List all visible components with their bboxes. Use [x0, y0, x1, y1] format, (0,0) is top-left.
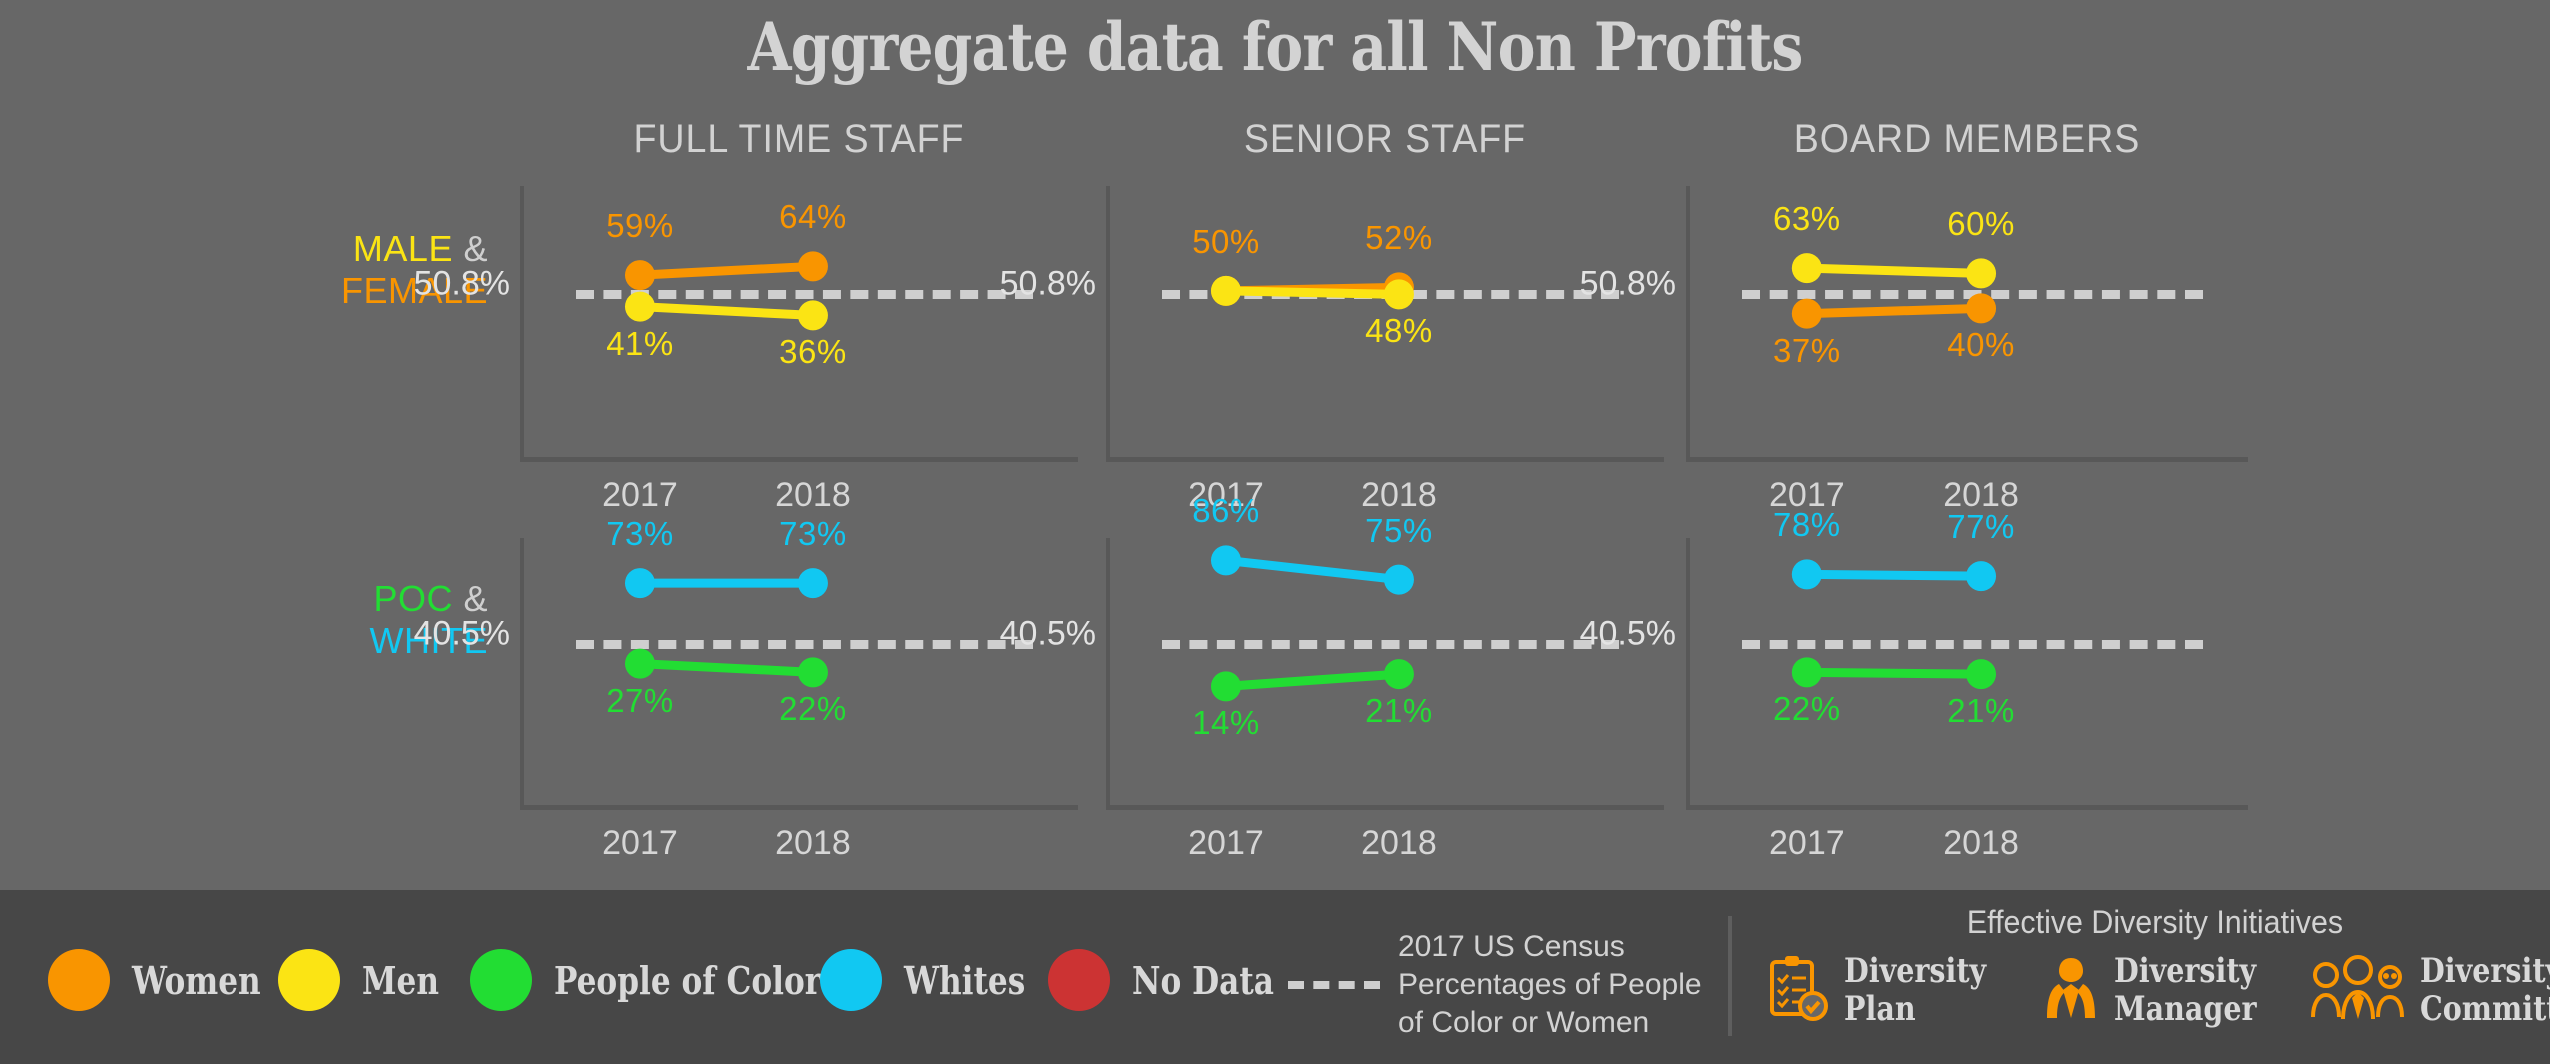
initiative-label: Diversity Manager	[2114, 952, 2257, 1028]
data-point[interactable]	[625, 568, 655, 598]
clipboard-check-icon	[1768, 954, 1830, 1027]
point-value-label: 22%	[779, 690, 847, 728]
census-note-text: 2017 US Census Percentages of People of …	[1398, 928, 1702, 1042]
point-value-label: 63%	[1773, 200, 1841, 238]
point-value-label: 73%	[779, 515, 847, 553]
legend-item-people-of-color[interactable]: People of Color	[470, 950, 880, 1010]
circle-icon	[48, 949, 110, 1011]
point-value-label: 21%	[1365, 692, 1433, 730]
point-value-label: 41%	[606, 325, 674, 363]
dashed-line-icon	[1288, 981, 1380, 989]
circle-icon	[820, 949, 882, 1011]
point-value-label: 77%	[1947, 508, 2015, 546]
data-point[interactable]	[1966, 258, 1996, 288]
initiative-label: Diversity Committee	[2420, 952, 2550, 1028]
x-tick-label-2018: 2018	[1901, 824, 2061, 863]
data-point[interactable]	[1384, 565, 1414, 595]
data-point[interactable]	[1966, 659, 1996, 689]
data-point[interactable]	[1792, 253, 1822, 283]
people-group-icon	[2310, 955, 2406, 1026]
x-tick-label-2017: 2017	[1727, 824, 1887, 863]
initiative-committee[interactable]: Diversity Committee	[2310, 952, 2550, 1028]
data-point[interactable]	[625, 649, 655, 679]
point-value-label: 86%	[1192, 492, 1260, 530]
row-label-ampersand: &	[463, 228, 488, 269]
series-line-people-of-color	[1226, 674, 1399, 686]
legend-label: No Data	[1132, 958, 1274, 1003]
column-header-3: BOARD MEMBERS	[1703, 117, 2231, 162]
point-value-label: 27%	[606, 682, 674, 720]
chart-panel-r2-c3: 40.5%78%77%22%21%20172018	[1686, 538, 2248, 810]
chart-panel-r1-c2: 50.8%50%52%48%20172018	[1106, 186, 1664, 462]
legend-item-whites[interactable]: Whites	[820, 950, 1052, 1010]
point-value-label: 22%	[1773, 690, 1841, 728]
row-label-ampersand: &	[463, 578, 488, 619]
point-value-label: 48%	[1365, 312, 1433, 350]
reference-value-label: 40.5%	[1536, 615, 1676, 654]
data-point[interactable]	[798, 568, 828, 598]
initiative-plan[interactable]: Diversity Plan	[1768, 952, 2013, 1028]
legend-label: People of Color	[554, 958, 821, 1003]
row-label-line1-text: MALE	[353, 228, 453, 269]
x-tick-label-2017: 2017	[560, 476, 720, 515]
census-note: 2017 US Census Percentages of People of …	[1288, 928, 1702, 1042]
point-value-label: 78%	[1773, 506, 1841, 544]
series-line-women	[640, 266, 813, 275]
reference-value-label: 50.8%	[956, 264, 1096, 303]
x-tick-label-2018: 2018	[733, 824, 893, 863]
legend-item-men[interactable]: Men	[278, 950, 456, 1010]
point-value-label: 60%	[1947, 205, 2015, 243]
series-line-women	[1807, 308, 1981, 313]
point-value-label: 21%	[1947, 692, 2015, 730]
series-line-whites	[1226, 560, 1399, 579]
circle-icon	[470, 949, 532, 1011]
point-value-label: 64%	[779, 198, 847, 236]
x-tick-label-2017: 2017	[560, 824, 720, 863]
data-point[interactable]	[1966, 561, 1996, 591]
column-header-2: SENIOR STAFF	[1123, 117, 1648, 162]
legend-label: Whites	[904, 958, 1025, 1003]
data-point[interactable]	[798, 300, 828, 330]
data-point[interactable]	[1211, 276, 1241, 306]
initiative-label: Diversity Plan	[1844, 952, 1986, 1028]
legend-label: Women	[132, 958, 261, 1003]
circle-icon	[1048, 949, 1110, 1011]
chart-panel-r2-c2: 40.5%86%75%14%21%20172018	[1106, 538, 1664, 810]
series-lines	[1686, 538, 2248, 810]
legend-label: Men	[362, 958, 439, 1003]
point-value-label: 73%	[606, 515, 674, 553]
footer-divider	[1728, 916, 1732, 1036]
series-line-whites	[1807, 574, 1981, 576]
data-point[interactable]	[1966, 293, 1996, 323]
person-icon	[2042, 954, 2100, 1027]
data-point[interactable]	[1792, 657, 1822, 687]
legend-item-no-data[interactable]: No Data	[1048, 950, 1305, 1010]
data-point[interactable]	[1211, 545, 1241, 575]
initiatives-title: Effective Diversity Initiatives	[1780, 904, 2531, 941]
x-tick-label-2018: 2018	[733, 476, 893, 515]
data-point[interactable]	[1211, 671, 1241, 701]
circle-icon	[278, 949, 340, 1011]
point-value-label: 37%	[1773, 332, 1841, 370]
footer-legend-bar: WomenMenPeople of ColorWhitesNo Data 201…	[0, 890, 2550, 1064]
point-value-label: 59%	[606, 207, 674, 245]
chart-panel-r1-c1: 50.8%59%64%41%36%20172018	[520, 186, 1078, 462]
chart-panel-r2-c1: 40.5%73%73%27%22%20172018	[520, 538, 1078, 810]
data-point[interactable]	[625, 292, 655, 322]
point-value-label: 36%	[779, 333, 847, 371]
reference-value-label: 40.5%	[956, 615, 1096, 654]
column-header-1: FULL TIME STAFF	[537, 117, 1062, 162]
point-value-label: 52%	[1365, 219, 1433, 257]
x-tick-label-2018: 2018	[1319, 476, 1479, 515]
legend-item-women[interactable]: Women	[48, 950, 289, 1010]
point-value-label: 75%	[1365, 512, 1433, 550]
row-label-line1-text: POC	[373, 578, 453, 619]
data-point[interactable]	[1792, 299, 1822, 329]
data-point[interactable]	[1384, 659, 1414, 689]
data-point[interactable]	[798, 251, 828, 281]
x-tick-label-2018: 2018	[1319, 824, 1479, 863]
page-title: Aggregate data for all Non Profits	[179, 8, 2372, 86]
reference-value-label: 50.8%	[1536, 264, 1676, 303]
series-lines	[520, 538, 1078, 810]
series-line-people-of-color	[640, 664, 813, 673]
point-value-label: 50%	[1192, 223, 1260, 261]
data-point[interactable]	[1792, 559, 1822, 589]
series-line-men	[1226, 291, 1399, 295]
data-point[interactable]	[798, 657, 828, 687]
series-line-men	[640, 307, 813, 316]
column-headers: FULL TIME STAFFSENIOR STAFFBOARD MEMBERS	[0, 117, 2550, 165]
x-tick-label-2017: 2017	[1146, 824, 1306, 863]
reference-value-label: 40.5%	[370, 615, 510, 654]
data-point[interactable]	[625, 260, 655, 290]
reference-value-label: 50.8%	[370, 264, 510, 303]
point-value-label: 40%	[1947, 326, 2015, 364]
data-point[interactable]	[1384, 279, 1414, 309]
point-value-label: 14%	[1192, 704, 1260, 742]
series-line-people-of-color	[1807, 672, 1981, 674]
series-line-men	[1807, 268, 1981, 273]
series-lines	[1106, 538, 1664, 810]
chart-panel-r1-c3: 50.8%63%60%37%40%20172018	[1686, 186, 2248, 462]
initiative-manager[interactable]: Diversity Manager	[2042, 952, 2284, 1028]
